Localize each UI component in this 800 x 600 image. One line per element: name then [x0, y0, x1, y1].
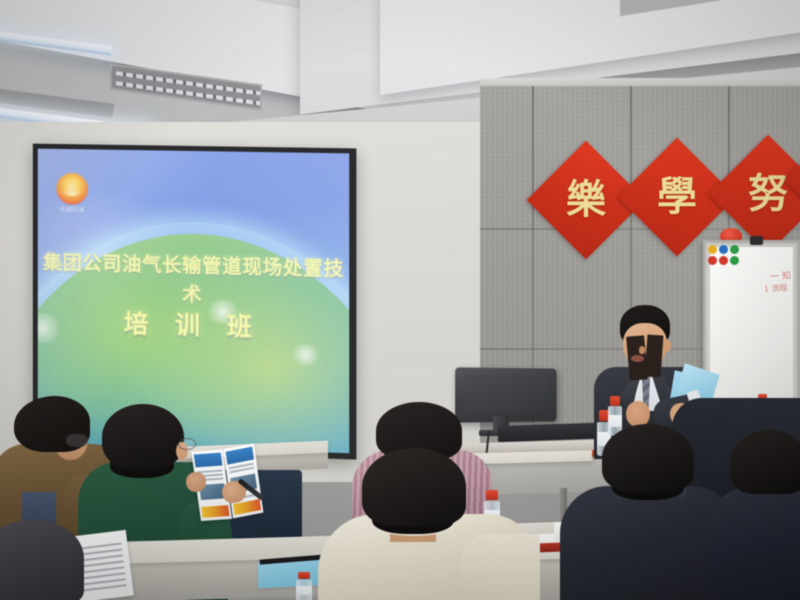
photo-scene: 樂 學 努 力 一 知 1 流程: [0, 0, 800, 600]
magnet-icon: [708, 256, 717, 265]
slide-title: 集团公司油气长输管道现场处置技术: [38, 246, 350, 311]
hair: [0, 520, 84, 600]
hair: [362, 448, 466, 526]
attendee-dark-suit-far-right: [714, 430, 800, 600]
whiteboard-surface: 一 知 1 流程: [710, 247, 793, 407]
magnet-icon: [730, 245, 739, 254]
water-bottle: [296, 572, 312, 600]
sun-icon: [56, 173, 87, 205]
eye: [647, 341, 655, 344]
hair: [102, 404, 184, 470]
logo-caption: 中国石油: [55, 204, 88, 214]
hand: [186, 472, 206, 492]
jacket-shoulder: [462, 534, 540, 600]
brochure-header-band: [226, 447, 254, 465]
earth-highlight: [289, 344, 322, 366]
bottle-cap-icon: [298, 572, 310, 579]
magnet-icon: [719, 245, 728, 254]
eye: [629, 342, 637, 345]
cnpc-logo: 中国石油: [56, 173, 87, 215]
attendee-front-left: [0, 520, 100, 600]
dark-suit: [708, 486, 800, 600]
banner-character: 努: [726, 152, 800, 236]
brochure-footer-band: [201, 505, 230, 518]
banner-character: 樂: [544, 158, 628, 242]
magnet-icon: [719, 256, 728, 265]
mouth-speaking: [631, 355, 644, 362]
bottle-label: [296, 586, 312, 595]
banner-character: 學: [635, 155, 719, 239]
clip-icon: [750, 236, 763, 245]
hair: [730, 430, 800, 494]
magnet-icon: [708, 245, 717, 254]
ear: [662, 339, 671, 352]
attendee-cream-jacket: [318, 448, 538, 600]
brochure-header-band: [194, 453, 223, 468]
whiteboard-note: 一 知: [770, 268, 792, 282]
magnet-icon: [730, 256, 739, 265]
magnet-group: [708, 245, 742, 267]
nose: [639, 346, 645, 354]
whiteboard-note: 1 流程: [764, 282, 788, 295]
bottle-cap-icon: [610, 396, 620, 406]
eyeglasses-icon: [178, 438, 196, 450]
hair: [602, 424, 694, 492]
